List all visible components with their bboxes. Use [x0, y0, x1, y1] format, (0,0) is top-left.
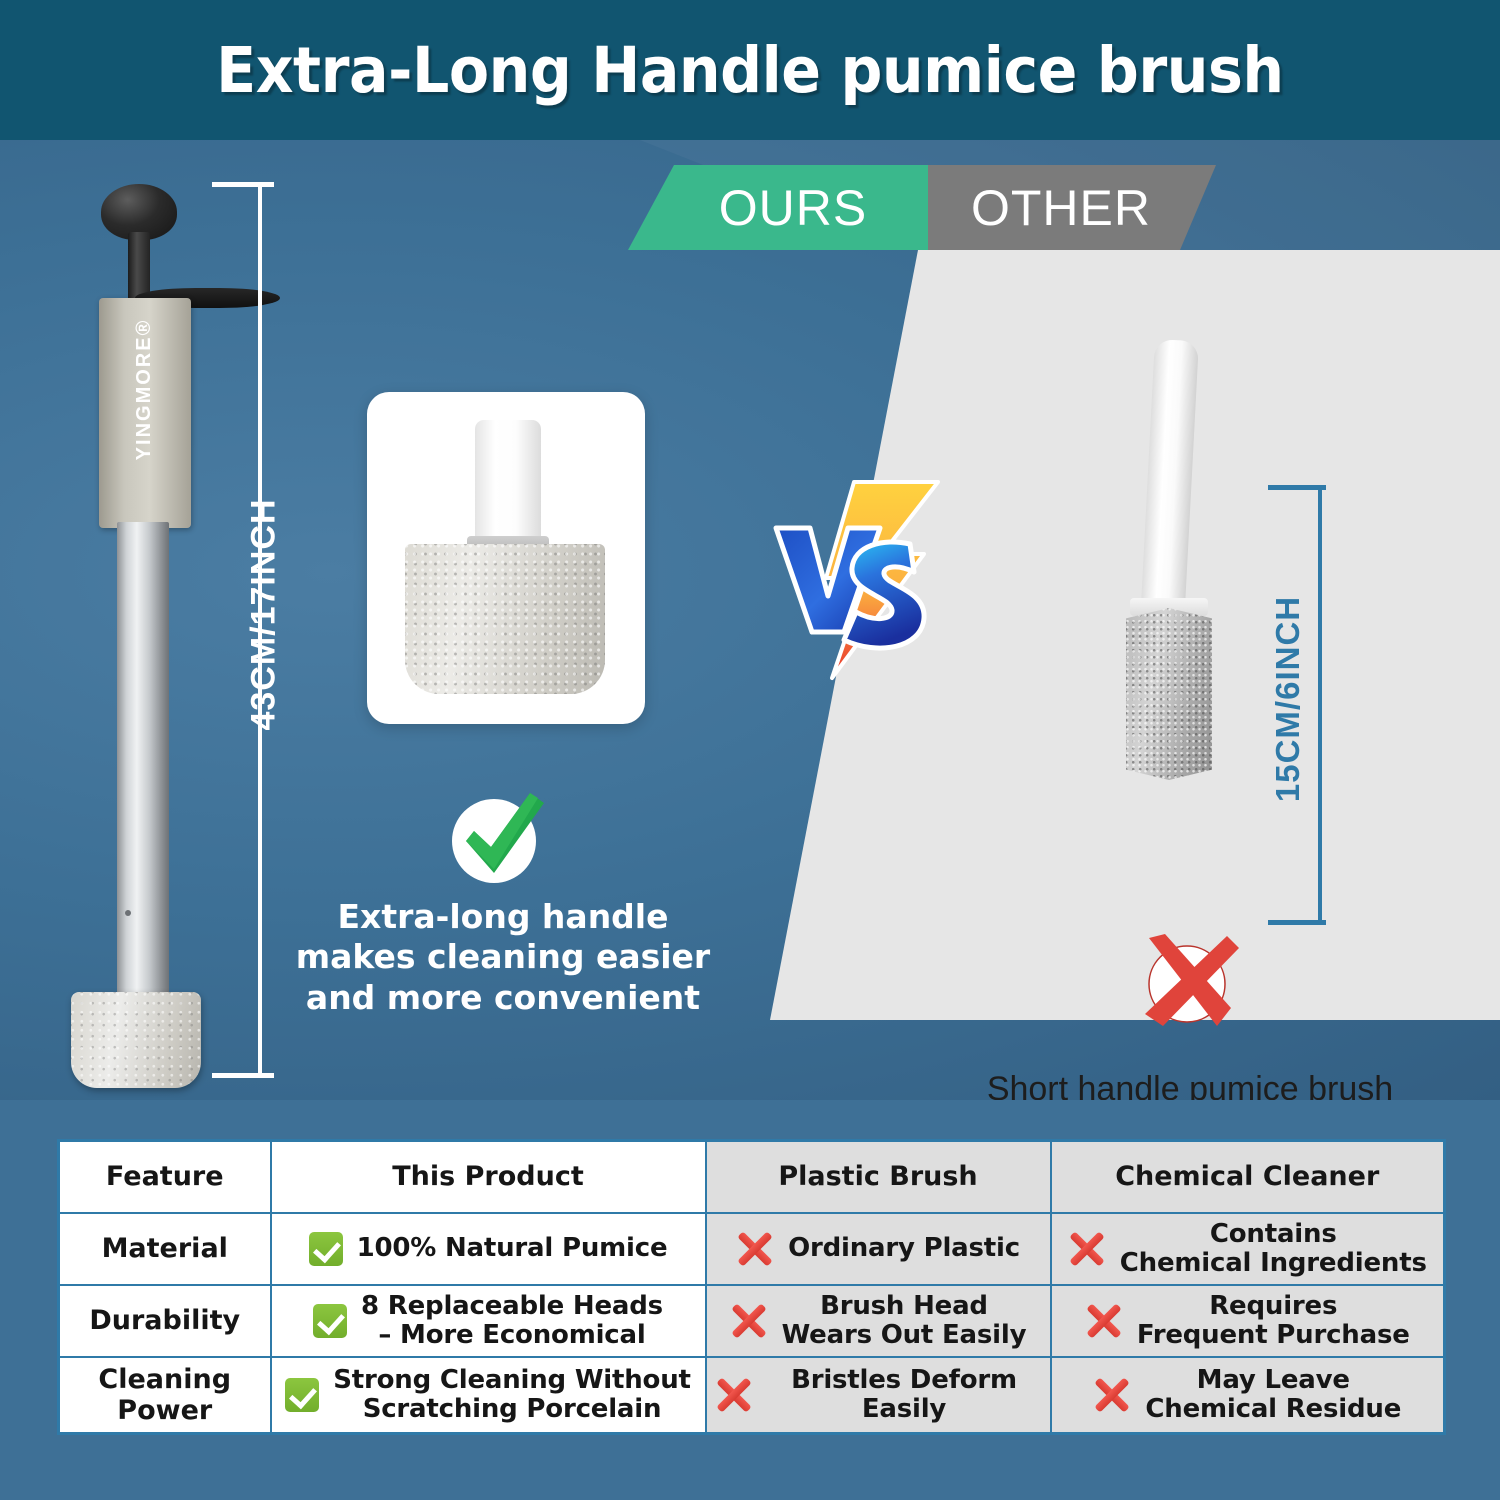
check-circle-icon: [444, 785, 548, 889]
table-row: Durability 8 Replaceable Heads– More Eco…: [59, 1285, 1445, 1357]
cell-this-product: Strong Cleaning WithoutScratching Porcel…: [271, 1357, 706, 1434]
table-row: Material 100% Natural Pumice Ordinary Pl…: [59, 1213, 1445, 1285]
cell-this-product: 100% Natural Pumice: [271, 1213, 706, 1285]
pumice-stone-head: [71, 992, 201, 1088]
cell-text: May LeaveChemical Residue: [1145, 1366, 1401, 1424]
cell-plastic-brush: Brush HeadWears Out Easily: [706, 1285, 1051, 1357]
other-label: OTHER: [971, 179, 1151, 237]
cell-chemical-cleaner: RequiresFrequent Purchase: [1051, 1285, 1445, 1357]
brush-grip: YINGMORE®: [99, 298, 191, 528]
x-icon: [1085, 1302, 1123, 1340]
competitor-handle: [1141, 339, 1199, 606]
row-feature-label: Material: [59, 1213, 271, 1285]
cell-this-product: 8 Replaceable Heads– More Economical: [271, 1285, 706, 1357]
row-feature-label: Durability: [59, 1285, 271, 1357]
cell-text: Bristles Deform Easily: [767, 1366, 1042, 1424]
cell-text: Ordinary Plastic: [788, 1234, 1020, 1263]
cell-text: Brush HeadWears Out Easily: [782, 1292, 1027, 1350]
pumice-head-closeup-card: [367, 392, 645, 724]
page-title: Extra-Long Handle pumice brush: [216, 34, 1283, 107]
short-handle-pumice-brush: [1100, 340, 1230, 790]
left-caption: Extra-long handle makes cleaning easier …: [288, 897, 718, 1018]
cell-chemical-cleaner: ContainsChemical Ingredients: [1051, 1213, 1445, 1285]
cell-text: 100% Natural Pumice: [357, 1234, 668, 1263]
cell-text: 8 Replaceable Heads– More Economical: [361, 1292, 663, 1350]
left-dimension-cap-top: [212, 182, 274, 187]
x-icon: [1093, 1376, 1131, 1414]
brand-label: YINGMORE®: [133, 282, 156, 497]
header-chemical-cleaner: Chemical Cleaner: [1051, 1141, 1445, 1213]
vs-lightning-icon: [762, 470, 962, 690]
competitor-pumice-stone: [1126, 608, 1212, 780]
check-icon: [309, 1232, 343, 1266]
shaft-release-button: [125, 910, 131, 916]
inset-pumice-stone: [405, 544, 605, 694]
table-header-row: Feature This Product Plastic Brush Chemi…: [59, 1141, 1445, 1213]
ours-label: OURS: [719, 179, 867, 237]
cell-text: RequiresFrequent Purchase: [1137, 1292, 1410, 1350]
right-dimension-cap-bottom: [1268, 920, 1326, 925]
cell-plastic-brush: Ordinary Plastic: [706, 1213, 1051, 1285]
header-this-product: This Product: [271, 1141, 706, 1213]
other-tab: OTHER: [928, 165, 1216, 250]
right-caption: Short handle pumice brush: [880, 1070, 1500, 1100]
table-row: Cleaning Power Strong Cleaning WithoutSc…: [59, 1357, 1445, 1434]
comparison-table: Feature This Product Plastic Brush Chemi…: [57, 1139, 1446, 1435]
x-icon: [1068, 1230, 1106, 1268]
cell-plastic-brush: Bristles Deform Easily: [706, 1357, 1051, 1434]
x-icon: [730, 1302, 768, 1340]
cell-text: ContainsChemical Ingredients: [1120, 1220, 1427, 1278]
page-header: Extra-Long Handle pumice brush: [0, 0, 1500, 140]
x-circle-icon: [1135, 930, 1239, 1034]
cell-text: Strong Cleaning WithoutScratching Porcel…: [333, 1366, 691, 1424]
brush-shaft: [117, 522, 169, 1007]
comparison-stage: OURS OTHER YINGMORE® 43CM/17INCH Ext: [0, 140, 1500, 1100]
cell-chemical-cleaner: May LeaveChemical Residue: [1051, 1357, 1445, 1434]
row-feature-label: Cleaning Power: [59, 1357, 271, 1434]
right-dimension-line: [1318, 485, 1322, 925]
check-icon: [285, 1378, 319, 1412]
x-icon: [736, 1230, 774, 1268]
ours-tab: OURS: [628, 165, 928, 250]
left-dimension-label: 43CM/17INCH: [245, 485, 284, 745]
inset-connector-cap: [475, 420, 541, 542]
x-icon: [715, 1376, 753, 1414]
left-dimension-cap-bottom: [212, 1073, 274, 1078]
header-plastic-brush: Plastic Brush: [706, 1141, 1051, 1213]
right-dimension-label: 15CM/6INCH: [1269, 583, 1307, 815]
header-feature: Feature: [59, 1141, 271, 1213]
right-dimension-cap-top: [1268, 485, 1326, 490]
check-icon: [313, 1304, 347, 1338]
